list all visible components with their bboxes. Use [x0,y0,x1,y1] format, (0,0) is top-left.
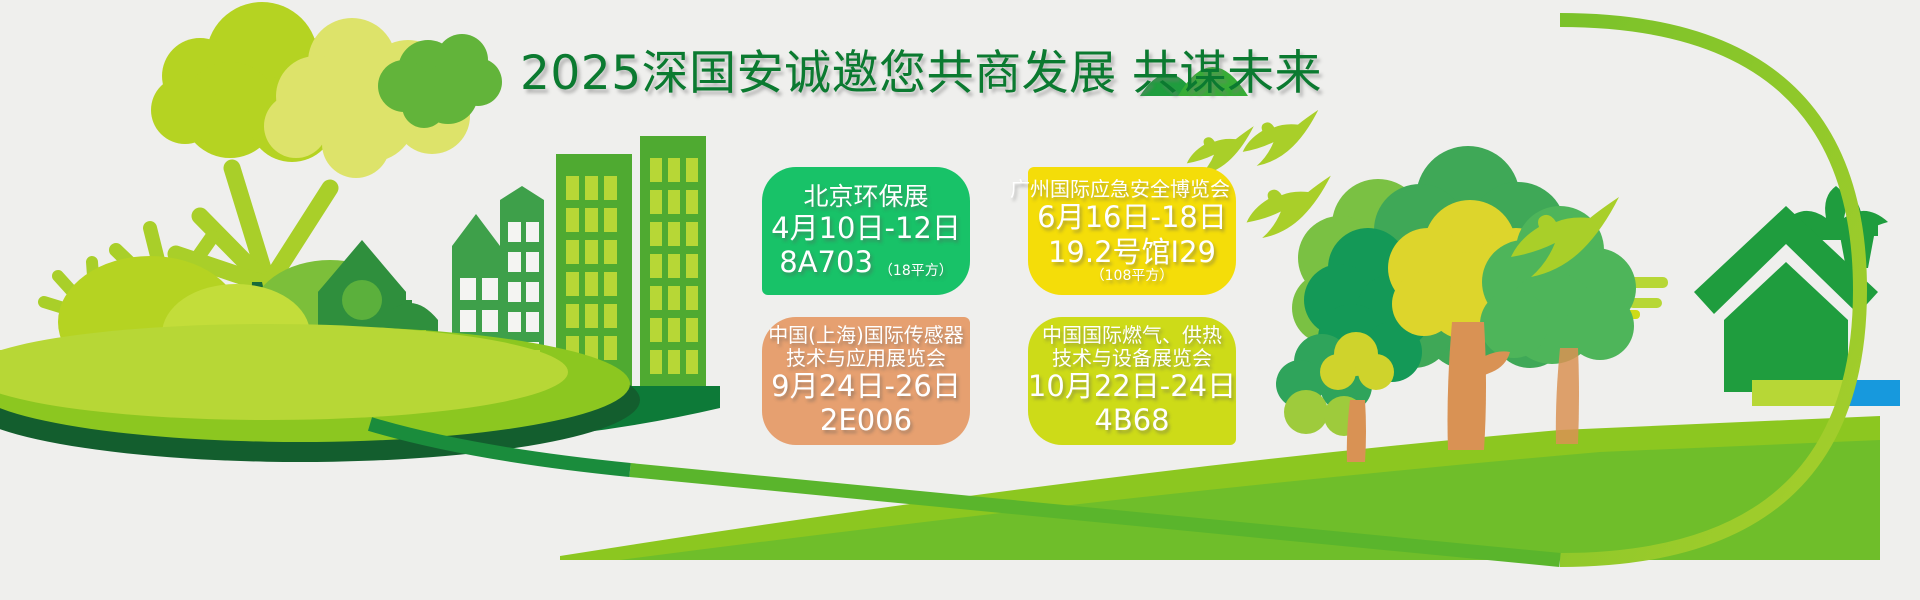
card-title: 北京环保展 [803,183,928,211]
card-title-line2: 技术与应用展览会 [786,347,946,369]
card-booth: 2E006 [820,403,912,437]
banner-canvas: 2025深国安诚邀您共商发展 共谋未来 北京环保展 4月10日-12日 8A70… [0,0,1920,600]
frame-right-arc [1560,20,1860,560]
title-container: 2025深国安诚邀您共商发展 共谋未来 [520,38,1240,108]
exhibition-card-beijing[interactable]: 北京环保展 4月10日-12日 8A703 （18平方） [762,167,970,295]
card-booth-line: 8A703 （18平方） [779,245,952,279]
card-date: 9月24日-26日 [771,369,961,403]
card-booth: 8A703 [779,245,873,279]
page-title: 2025深国安诚邀您共商发展 共谋未来 [520,50,1322,97]
card-booth: 19.2号馆I29 [1048,235,1216,269]
exhibition-card-gas[interactable]: 中国国际燃气、供热 技术与设备展览会 10月22日-24日 4B68 [1028,317,1236,445]
frame-bottom-bar [630,470,1560,560]
card-date: 10月22日-24日 [1028,369,1236,403]
card-title: 广州国际应急安全博览会 [1010,178,1230,200]
exhibition-card-guangzhou[interactable]: 广州国际应急安全博览会 6月16日-18日 19.2号馆I29 （108平方） [1028,167,1236,295]
card-title-line2: 技术与设备展览会 [1052,347,1212,369]
card-area: （108平方） [1091,269,1174,284]
frame-bottom-curve [370,424,630,470]
exhibition-card-shanghai[interactable]: 中国(上海)国际传感器 技术与应用展览会 9月24日-26日 2E006 [762,317,970,445]
card-area: （18平方） [879,264,953,279]
card-booth: 4B68 [1094,403,1169,437]
card-date: 6月16日-18日 [1037,200,1227,234]
card-title-line1: 中国国际燃气、供热 [1042,324,1222,346]
card-title-line1: 中国(上海)国际传感器 [768,324,964,346]
card-date: 4月10日-12日 [771,211,961,245]
